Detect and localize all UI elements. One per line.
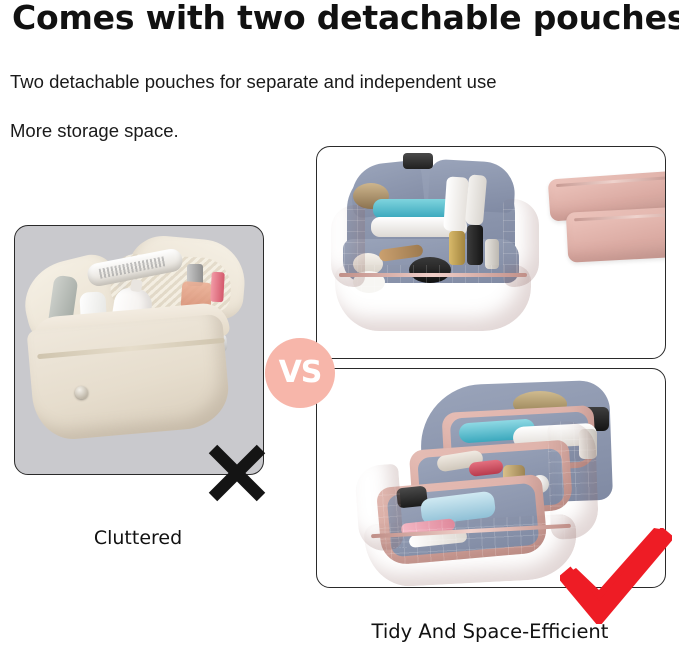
versus-badge-label: VS (279, 358, 322, 388)
comparison-panel-with-pouches: ····· (316, 146, 666, 359)
infographic-root: Comes with two detachable pouches Two de… (0, 0, 679, 654)
detachable-pouch-front (566, 205, 666, 262)
organized-bag-with-pouches-illustration: ····· (317, 147, 665, 358)
x-mark-icon (206, 443, 268, 505)
caption-cluttered: Cluttered (14, 527, 262, 549)
content-black-bottle (467, 225, 483, 265)
content-white-carton (443, 176, 469, 231)
bag-brand-emboss: ····· (393, 545, 408, 551)
bag-body (26, 314, 231, 443)
cluttered-bag-illustration (15, 226, 263, 474)
case-brand-emboss: ····· (449, 297, 464, 303)
check-mark-icon (560, 528, 672, 624)
subtitle-line-2: More storage space. (10, 120, 179, 142)
case-zipper (339, 273, 527, 277)
comparison-panel-cluttered (14, 225, 264, 475)
versus-badge: VS (265, 338, 335, 408)
page-title: Comes with two detachable pouches (12, 0, 672, 37)
bag-outer-right (547, 420, 599, 540)
content-gold-bottle (449, 231, 465, 265)
clutter-lipstick (210, 272, 225, 303)
subtitle-line-1: Two detachable pouches for separate and … (10, 71, 497, 93)
bag-outer-left (354, 464, 404, 553)
content-dark-case (403, 153, 433, 169)
bag-snap-button (75, 386, 88, 399)
